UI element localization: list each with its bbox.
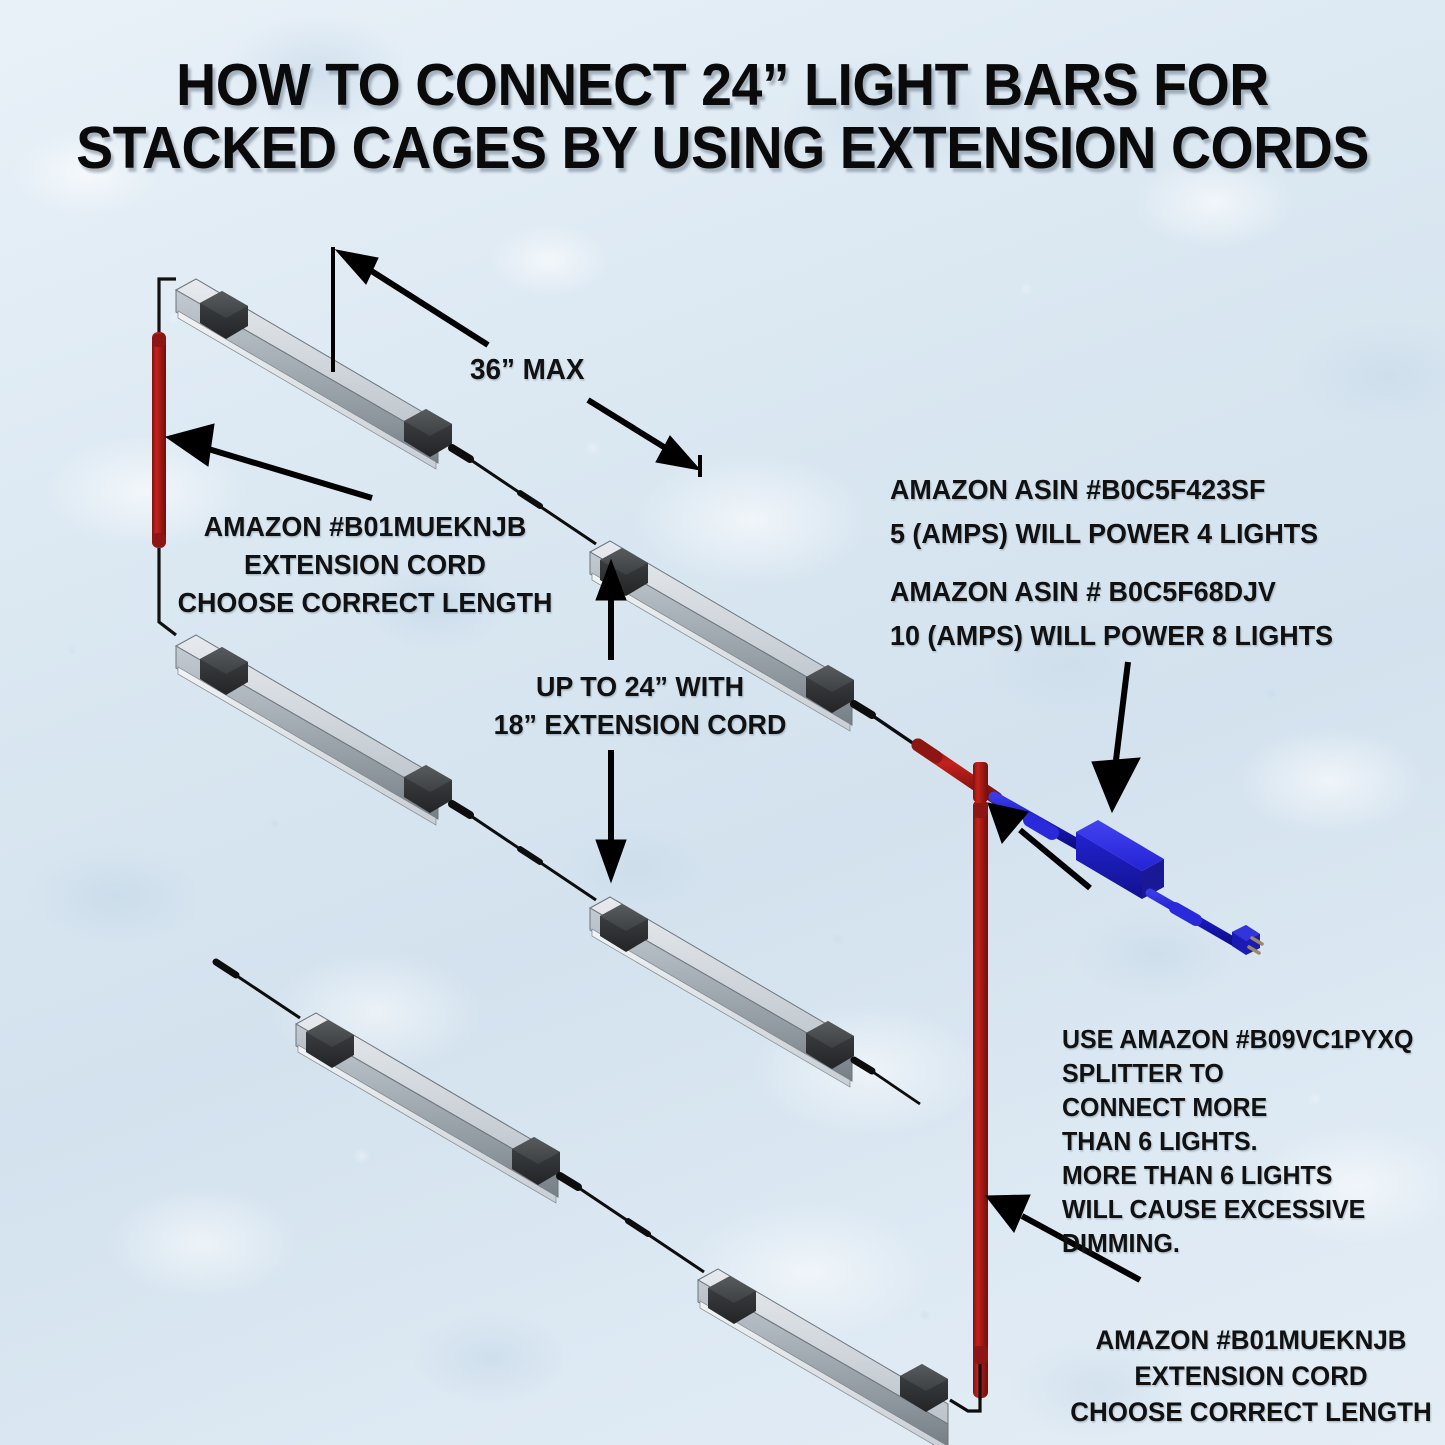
black-jumper-cord	[950, 1398, 980, 1411]
black-jumper-cord	[854, 704, 920, 748]
arrow-24-down	[596, 750, 626, 882]
annotation-left-extension-cord: AMAZON #B01MUEKNJB EXTENSION CORD CHOOSE…	[163, 508, 566, 622]
light-bar	[176, 635, 452, 825]
arrow-power-adapter	[1092, 662, 1140, 812]
arrow-36-right	[588, 400, 700, 470]
black-jumper-cord	[216, 962, 300, 1018]
black-jumper-cord	[854, 1060, 920, 1104]
wall-plug	[1232, 925, 1262, 955]
annotation-power-supply-10a: AMAZON ASIN # B0C5F68DJV 10 (AMPS) WILL …	[890, 570, 1333, 658]
power-supply-cable	[994, 797, 1262, 955]
light-bar	[296, 1013, 560, 1203]
arrow-36-left	[336, 250, 488, 345]
red-splitter	[918, 745, 996, 1400]
light-bar	[590, 897, 854, 1087]
black-jumper-cord	[452, 804, 596, 900]
annotation-power-supply-5a: AMAZON ASIN #B0C5F423SF 5 (AMPS) WILL PO…	[890, 468, 1318, 556]
light-bar	[698, 1269, 948, 1445]
annotation-splitter: USE AMAZON #B09VC1PYXQ SPLITTER TO CONNE…	[1062, 1022, 1413, 1260]
annotation-max-spacing: 36” MAX	[470, 352, 584, 388]
infographic-canvas: HOW TO CONNECT 24” LIGHT BARS FOR STACKE…	[0, 0, 1445, 1445]
annotation-bottom-extension-cord: AMAZON #B01MUEKNJB EXTENSION CORD CHOOSE…	[1068, 1322, 1435, 1430]
annotation-arrows	[166, 247, 1140, 1280]
light-bar	[176, 279, 452, 469]
arrow-left-extension-cord	[166, 424, 372, 498]
black-jumper-cord	[560, 1176, 704, 1272]
annotation-bar-to-bar-spacing: UP TO 24” WITH 18” EXTENSION CORD	[482, 668, 799, 744]
light-bar-row-bottom	[216, 962, 980, 1445]
